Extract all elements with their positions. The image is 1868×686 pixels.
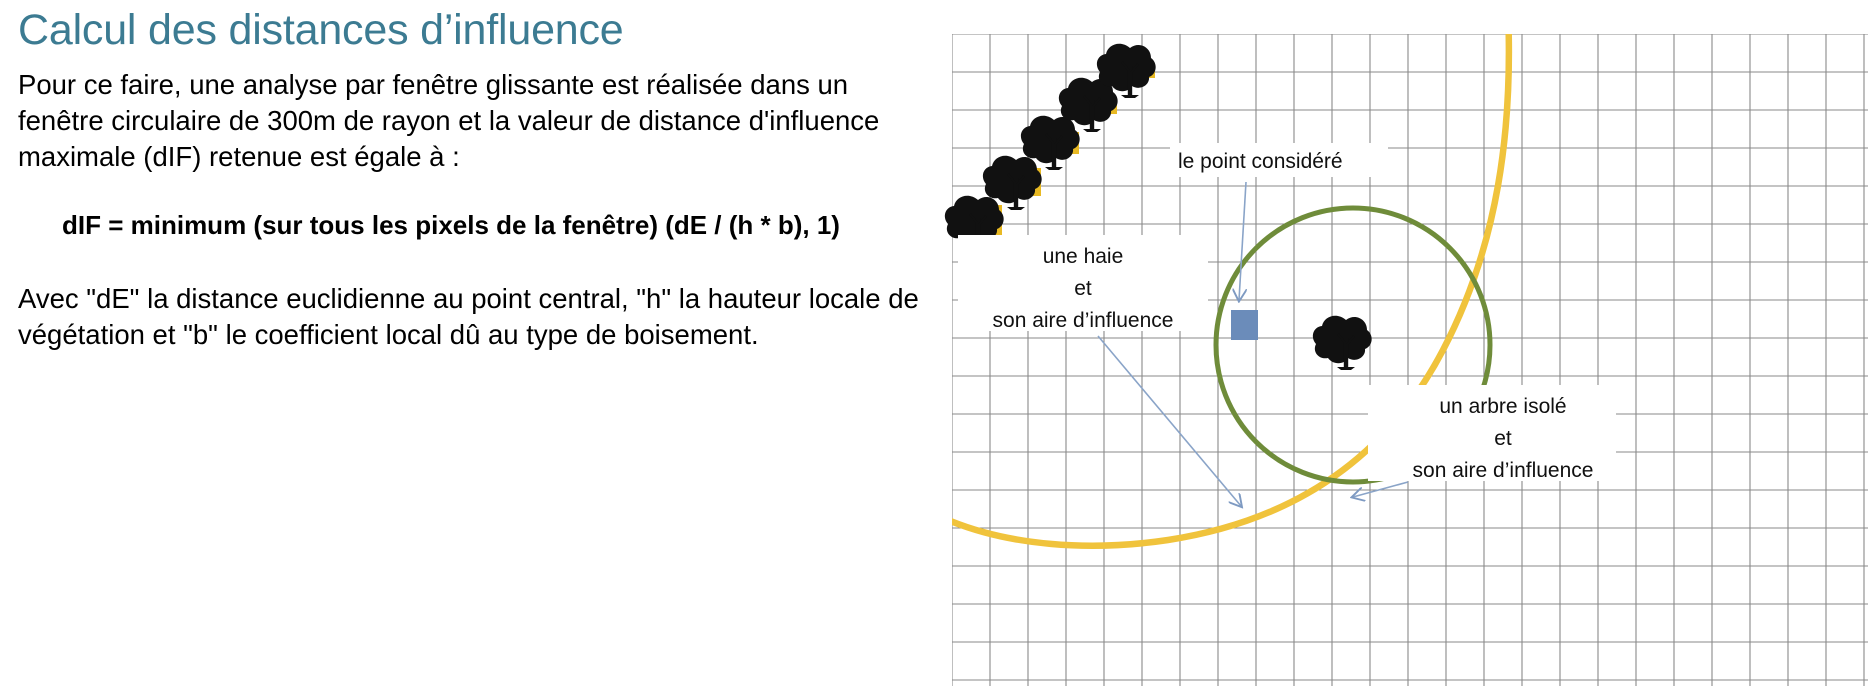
influence-diagram: le point considéré une haie et son aire … (938, 0, 1868, 686)
page-title: Calcul des distances d’influence (18, 8, 930, 53)
formula-line: dIF = minimum (sur tous les pixels de la… (18, 210, 930, 241)
paragraph-intro: Pour ce faire, une analyse par fenêtre g… (18, 67, 930, 174)
callout-isolated-tree: un arbre isolé et son aire d’influence (1353, 385, 1616, 497)
spacer-above-formula (18, 174, 930, 210)
label-isolated-tree-line1: un arbre isolé (1439, 395, 1566, 418)
label-isolated-tree-line2: et (1494, 427, 1512, 450)
label-considered-point: le point considéré (1178, 150, 1343, 173)
slide-root: Calcul des distances d’influence Pour ce… (0, 0, 1868, 686)
label-hedge-line2: et (1074, 277, 1092, 300)
label-hedge-line3: son aire d’influence (993, 309, 1174, 332)
considered-point-marker[interactable] (1231, 310, 1258, 340)
label-isolated-tree-line3: son aire d’influence (1413, 459, 1594, 482)
paragraph-outro: Avec "dE" la distance euclidienne au poi… (18, 281, 930, 353)
spacer-below-formula (18, 241, 930, 281)
label-hedge-line1: une haie (1043, 245, 1124, 268)
text-column: Calcul des distances d’influence Pour ce… (18, 8, 930, 353)
